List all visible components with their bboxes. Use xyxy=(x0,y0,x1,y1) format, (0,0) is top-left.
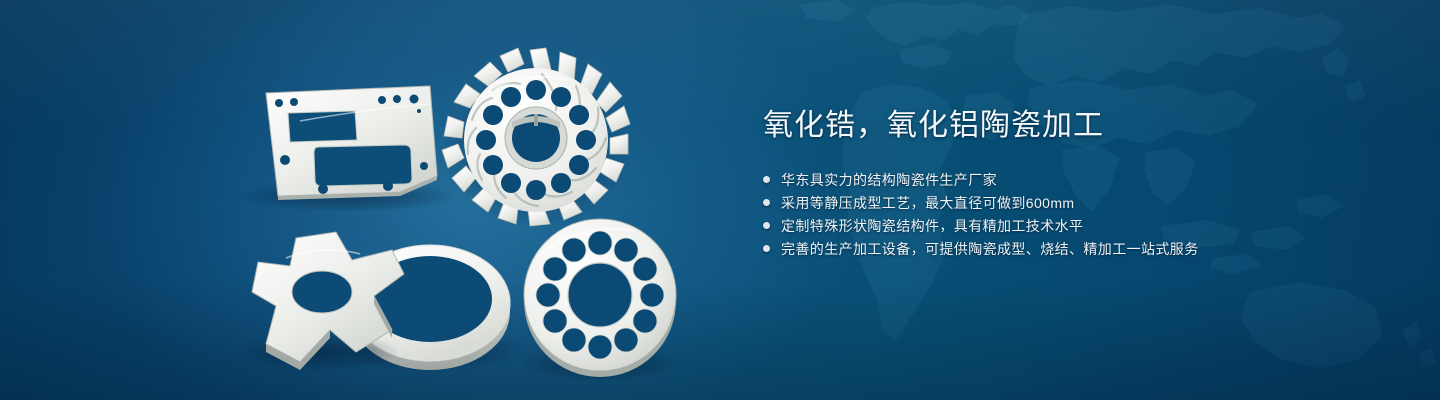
feature-text: 完善的生产加工设备，可提供陶瓷成型、烧结、精加工一站式服务 xyxy=(781,239,1199,259)
ceramic-perforated-disc xyxy=(520,219,680,381)
bullet-dot-icon xyxy=(763,245,770,252)
bullet-dot-icon xyxy=(763,176,770,183)
feature-item: 华东具实力的结构陶瓷件生产厂家 xyxy=(763,168,1323,191)
feature-text: 采用等静压成型工艺，最大直径可做到600mm xyxy=(781,193,1074,213)
banner-copy: 氧化锆，氧化铝陶瓷加工 华东具实力的结构陶瓷件生产厂家 采用等静压成型工艺，最大… xyxy=(763,106,1323,260)
promo-banner: 氧化锆，氧化铝陶瓷加工 华东具实力的结构陶瓷件生产厂家 采用等静压成型工艺，最大… xyxy=(0,0,1440,400)
feature-item: 定制特殊形状陶瓷结构件，具有精加工技术水平 xyxy=(763,214,1323,237)
feature-text: 定制特殊形状陶瓷结构件，具有精加工技术水平 xyxy=(781,216,1083,236)
feature-text: 华东具实力的结构陶瓷件生产厂家 xyxy=(781,170,997,190)
feature-item: 完善的生产加工设备，可提供陶瓷成型、烧结、精加工一站式服务 xyxy=(763,237,1323,260)
ceramic-vaned-impeller xyxy=(441,48,631,230)
feature-list: 华东具实力的结构陶瓷件生产厂家 采用等静压成型工艺，最大直径可做到600mm 定… xyxy=(763,168,1323,260)
ceramic-machined-plate xyxy=(238,86,458,212)
bullet-dot-icon xyxy=(763,222,770,229)
banner-headline: 氧化锆，氧化铝陶瓷加工 xyxy=(763,106,1323,146)
feature-item: 采用等静压成型工艺，最大直径可做到600mm xyxy=(763,191,1323,214)
bullet-dot-icon xyxy=(763,199,770,206)
ceramic-products-image xyxy=(0,0,760,400)
